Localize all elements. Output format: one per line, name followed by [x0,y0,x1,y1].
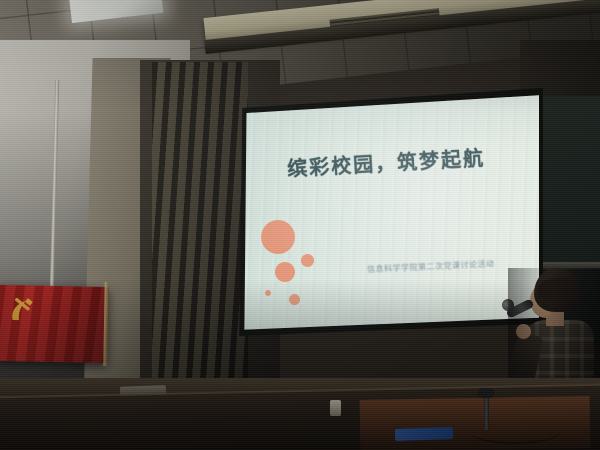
blue-notebook [395,427,453,441]
party-flag [0,285,109,363]
screen-vignette [239,94,539,332]
lecture-hall-photo: 缤彩校园，筑梦起航 信息科学学院第二次党课讨论活动 [0,0,600,450]
projection-screen: 缤彩校园，筑梦起航 信息科学学院第二次党课讨论活动 [239,94,539,332]
window-curtain [152,62,248,392]
paper-cup [330,400,341,416]
microphone-stand-head [478,388,494,398]
audio-cable [470,420,560,444]
hammer-and-sickle-icon [5,295,40,328]
